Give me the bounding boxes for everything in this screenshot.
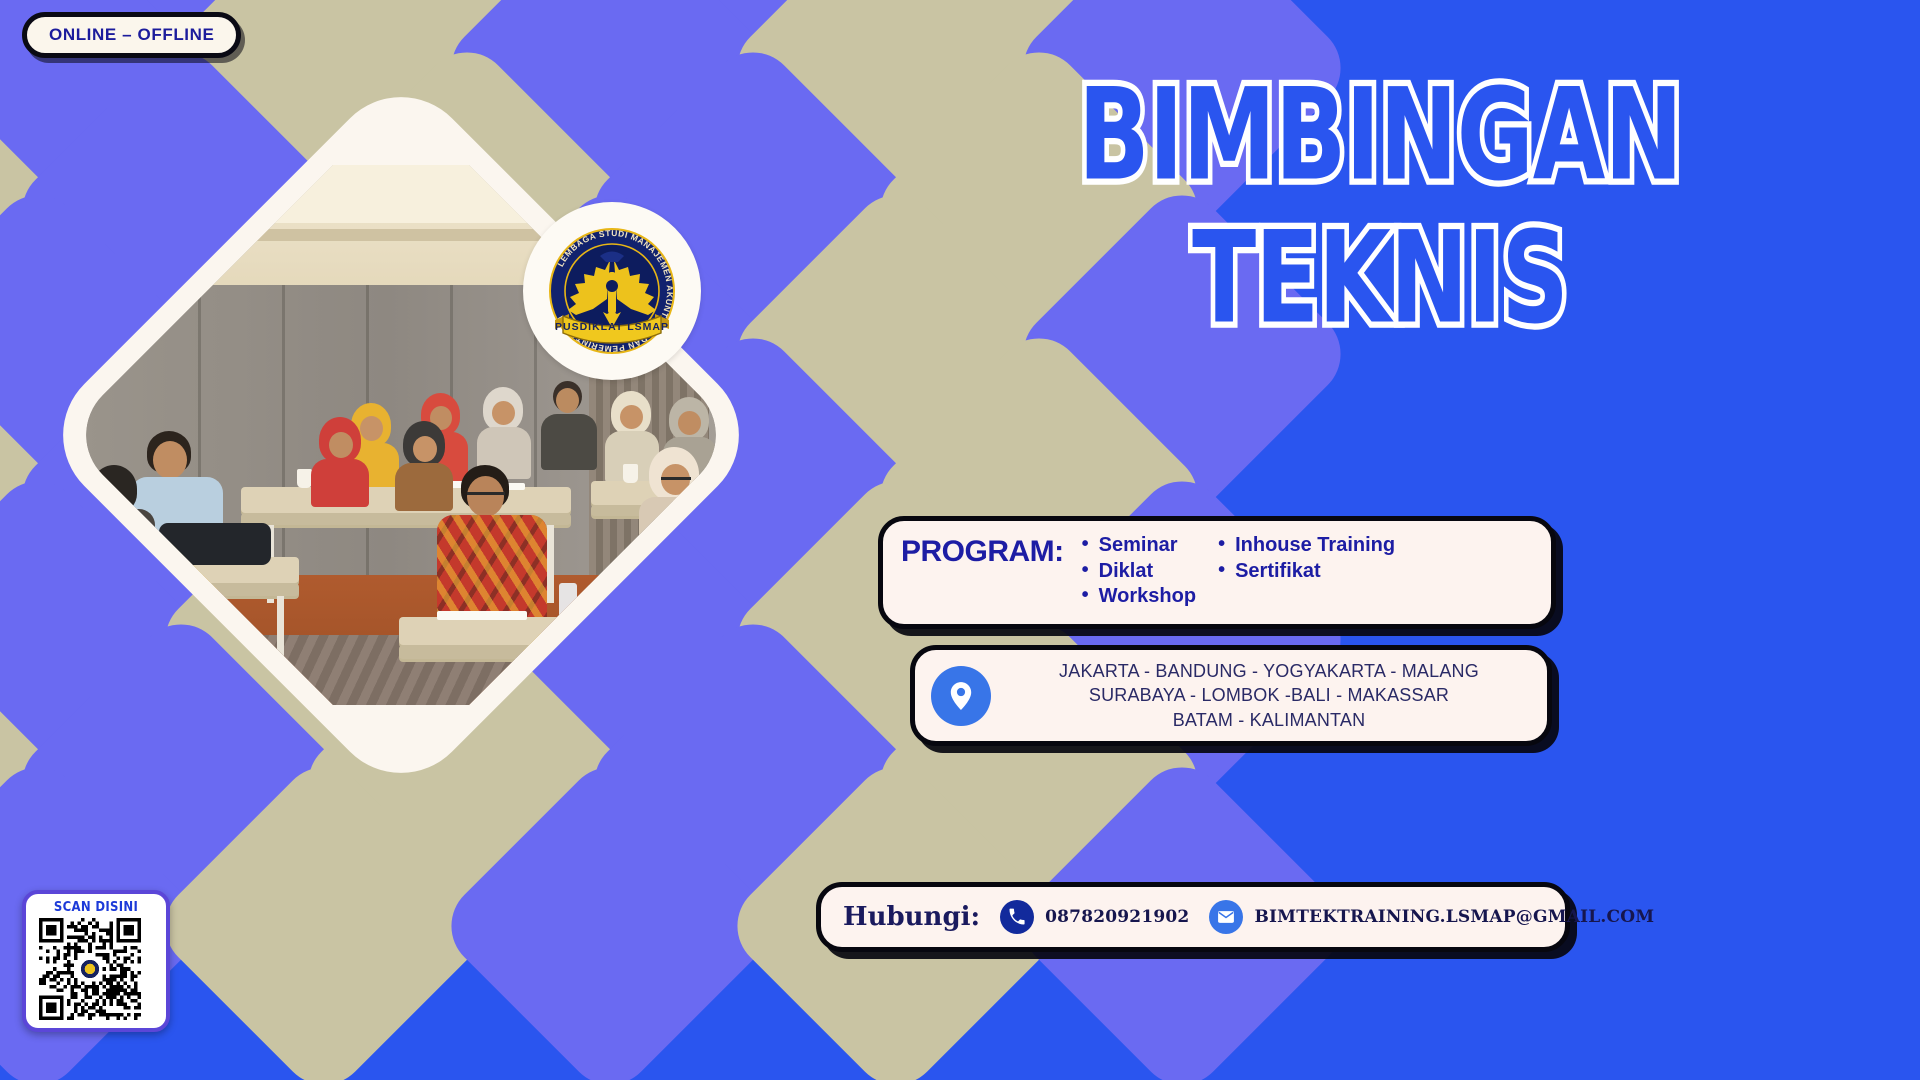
program-card: PROGRAM: Seminar Diklat Workshop Inhouse…: [878, 516, 1556, 629]
qr-card[interactable]: SCAN DISINI: [22, 890, 170, 1032]
phone-number[interactable]: 087820921902: [1045, 907, 1189, 927]
phone-icon: [1000, 900, 1034, 934]
locations-text: JAKARTA - BANDUNG - YOGYAKARTA - MALANG …: [1007, 659, 1531, 732]
photo-clip: [63, 97, 739, 773]
program-label: PROGRAM:: [901, 533, 1064, 571]
qr-label: SCAN DISINI: [32, 900, 160, 915]
program-item: Diklat: [1082, 559, 1196, 585]
right-column: BIMBINGAN TEKNIS PROGRAM: Seminar Diklat…: [1000, 0, 1900, 1080]
program-item: Sertifikat: [1218, 559, 1395, 585]
phone-contact[interactable]: 087820921902: [1000, 900, 1189, 934]
envelope-icon: [1209, 900, 1243, 934]
contact-card: Hubungi: 087820921902 BIMTEKTRAINING.LSM…: [816, 882, 1570, 952]
email-address[interactable]: BIMTEKTRAINING.LSMAP@GMAIL.COM: [1254, 907, 1654, 927]
location-line: BATAM - KALIMANTAN: [1007, 708, 1531, 732]
logo-ribbon-text: PUSDIKLAT LSMAP: [555, 321, 669, 333]
program-item: Seminar: [1082, 533, 1196, 559]
locations-card: JAKARTA - BANDUNG - YOGYAKARTA - MALANG …: [910, 645, 1552, 746]
headline-line-1: BIMBINGAN: [992, 78, 1767, 195]
location-line: SURABAYA - LOMBOK -BALI - MAKASSAR: [1007, 683, 1531, 707]
program-item: Inhouse Training: [1218, 533, 1395, 559]
qr-code-icon[interactable]: [32, 918, 148, 1020]
program-list-column-1: Seminar Diklat Workshop: [1082, 533, 1196, 610]
contact-label: Hubungi:: [843, 902, 980, 932]
garuda-emblem-icon: LEMBAGA STUDI MANAJEMEN AKUNTANSI DAN PE…: [537, 216, 687, 366]
email-contact[interactable]: BIMTEKTRAINING.LSMAP@GMAIL.COM: [1209, 900, 1654, 934]
headline-line-2: TEKNIS: [992, 221, 1767, 338]
photo-diamond: LEMBAGA STUDI MANAJEMEN AKUNTANSI DAN PE…: [36, 70, 766, 800]
logo-badge: LEMBAGA STUDI MANAJEMEN AKUNTANSI DAN PE…: [523, 202, 701, 380]
map-pin-icon: [931, 666, 991, 726]
program-item: Workshop: [1082, 584, 1196, 610]
program-list-column-2: Inhouse Training Sertifikat: [1218, 533, 1395, 584]
page-title: BIMBINGAN TEKNIS: [1000, 78, 1760, 305]
online-offline-badge: ONLINE – OFFLINE: [22, 12, 241, 58]
location-line: JAKARTA - BANDUNG - YOGYAKARTA - MALANG: [1007, 659, 1531, 683]
